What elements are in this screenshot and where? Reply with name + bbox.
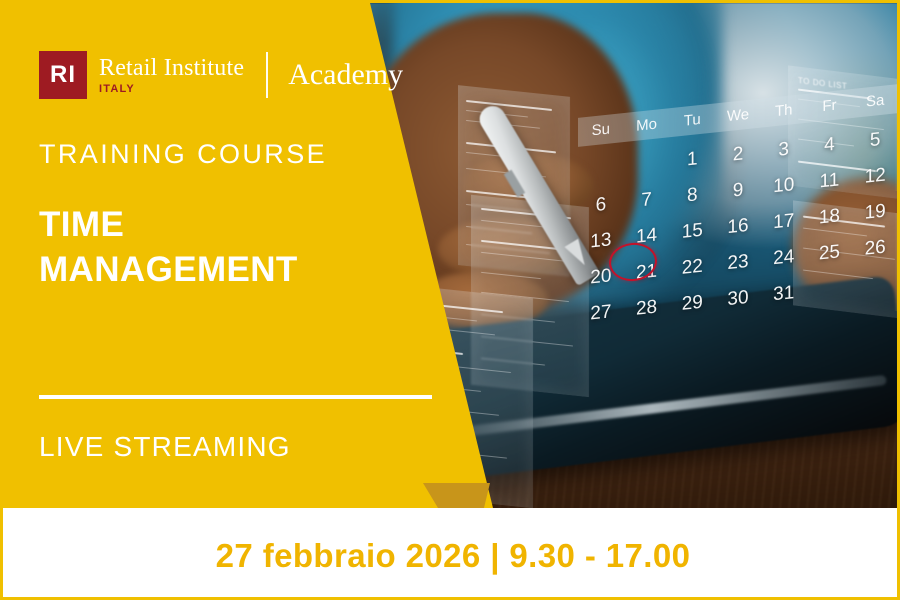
calendar-cell: 5	[852, 127, 898, 154]
logo-wordmark: Retail Institute ITALY	[99, 56, 244, 95]
logo-mark-ri: RI	[39, 51, 87, 99]
calendar-cell: 25	[807, 240, 853, 267]
calendar-cell	[624, 151, 670, 178]
calendar-cell: 7	[624, 187, 670, 214]
date-time-text: 27 febbraio 2026 | 9.30 - 17.00	[216, 537, 691, 575]
calendar-day-header: Sa	[852, 90, 898, 112]
calendar-cell: 8	[669, 182, 715, 209]
calendar-cell: 22	[669, 254, 715, 281]
calendar-cell: 6	[578, 192, 624, 219]
calendar-cell: 16	[715, 214, 761, 241]
calendar-cell: 15	[669, 218, 715, 245]
calendar-cell: 9	[715, 178, 761, 205]
title-line-1: TIME	[39, 203, 298, 248]
calendar-cell: 17	[761, 209, 807, 236]
calendar-cell: 3	[761, 137, 807, 164]
calendar-day-header: Tu	[669, 109, 715, 131]
calendar-cell: 23	[715, 250, 761, 277]
brand-logo: RI Retail Institute ITALY Academy	[39, 51, 403, 99]
page-title: TIME MANAGEMENT	[39, 203, 298, 293]
calendar-cell: 1	[669, 146, 715, 173]
calendar-cell: 4	[807, 132, 853, 159]
logo-academy-label: Academy	[288, 58, 403, 92]
course-kicker: TRAINING COURSE	[39, 139, 327, 170]
logo-institute-name: Retail Institute	[99, 56, 244, 80]
calendar-cell: 11	[807, 168, 853, 195]
calendar-cell: 26	[852, 235, 898, 262]
footer-bar: 27 febbraio 2026 | 9.30 - 17.00	[3, 508, 900, 600]
holo-calendar: Su Mo Tu We Th Fr Sa 1 2 3 4 5 6 7 8	[578, 84, 898, 327]
delivery-mode: LIVE STREAMING	[39, 431, 291, 463]
calendar-day-header: We	[715, 105, 761, 127]
calendar-day-header: Fr	[807, 95, 853, 117]
calendar-day-header: Mo	[624, 114, 670, 136]
promo-banner: TO DO LIST Su Mo Tu We Th Fr Sa	[0, 0, 900, 600]
calendar-day-header: Th	[761, 100, 807, 122]
calendar-cell: 10	[761, 173, 807, 200]
calendar-cell	[578, 156, 624, 183]
logo-country: ITALY	[99, 84, 244, 95]
calendar-cell: 18	[807, 204, 853, 231]
calendar-day-header: Su	[578, 119, 624, 141]
title-line-2: MANAGEMENT	[39, 248, 298, 293]
divider-rule	[39, 395, 432, 399]
logo-divider	[266, 52, 268, 98]
calendar-cell: 24	[761, 245, 807, 272]
calendar-cell: 19	[852, 199, 898, 226]
calendar-cell: 2	[715, 142, 761, 169]
calendar-cell: 12	[852, 163, 898, 190]
